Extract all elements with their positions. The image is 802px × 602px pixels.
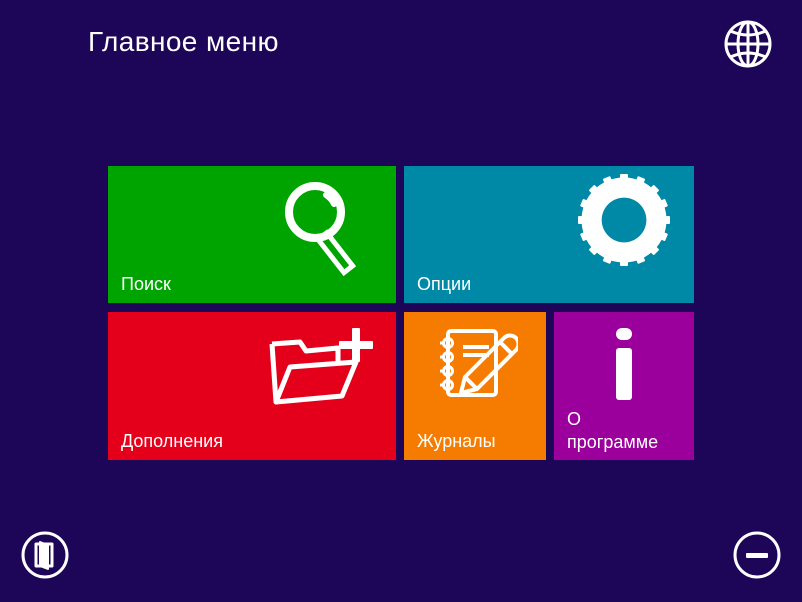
tile-addons-label: Дополнения — [121, 431, 388, 452]
tile-grid: Поиск — [108, 166, 694, 460]
tile-about-label: О программе — [567, 408, 686, 454]
info-icon — [604, 326, 644, 402]
tile-about[interactable]: О программе — [554, 312, 694, 460]
globe-icon[interactable] — [722, 18, 774, 70]
folder-plus-icon — [266, 326, 376, 416]
main-menu-window: Главное меню Поиск — [0, 0, 802, 602]
page-title: Главное меню — [88, 26, 279, 58]
tile-journals-label: Журналы — [417, 431, 538, 452]
tile-journals[interactable]: Журналы — [404, 312, 546, 460]
exit-door-icon[interactable] — [20, 530, 70, 580]
tile-options-label: Опции — [417, 274, 686, 295]
minimize-icon[interactable] — [732, 530, 782, 580]
notebook-pencil-icon — [432, 326, 518, 402]
magnifier-icon — [274, 174, 378, 278]
tile-search-label: Поиск — [121, 274, 388, 295]
tile-addons[interactable]: Дополнения — [108, 312, 396, 460]
gear-icon — [576, 172, 672, 268]
tile-search[interactable]: Поиск — [108, 166, 396, 303]
tile-options[interactable]: Опции — [404, 166, 694, 303]
